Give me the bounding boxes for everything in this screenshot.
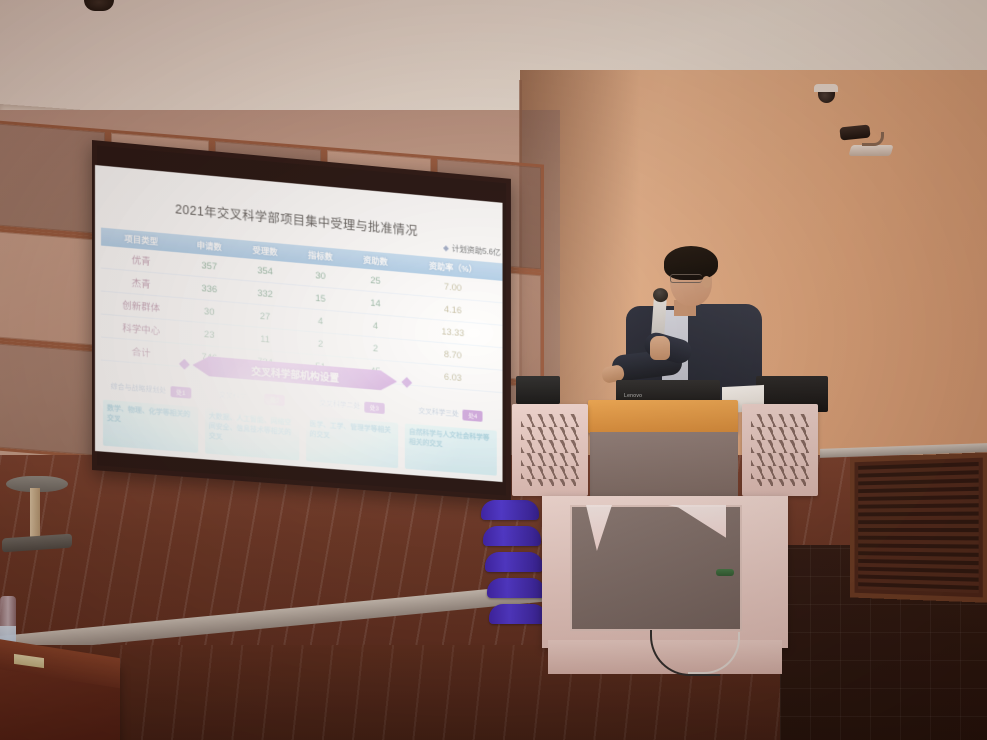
- org-chip-label: 交叉科学二处: [319, 398, 360, 411]
- org-chip-tag: 处1: [170, 386, 191, 399]
- org-chip-tag: 处3: [364, 401, 385, 413]
- org-box: 大数据、人工智能、网络空间安全、信息技术等相关的交叉: [205, 408, 299, 461]
- org-box: 数学、物理、化学等相关的交叉: [103, 400, 198, 453]
- bullet-camera: [840, 126, 900, 162]
- projection-screen: 2021年交叉科学部项目集中受理与批准情况 ◆计划资助5.6亿 项目类型 申请数…: [92, 140, 522, 470]
- stage-stool: [6, 476, 68, 572]
- slide-note-text: 计划资助5.6亿: [452, 244, 501, 257]
- org-chip: 综合与战略规划处 处1: [103, 378, 199, 402]
- glasses-icon: [670, 274, 702, 283]
- org-chip: 交叉科学三处 处4: [404, 402, 496, 425]
- org-chip-tag: 处2: [264, 393, 285, 406]
- ear: [702, 276, 711, 288]
- slide-note: ◆计划资助5.6亿: [443, 242, 501, 258]
- lectern-podium: Lenovo: [500, 392, 830, 692]
- org-chip: 交叉科学二处 处3: [305, 394, 399, 417]
- org-box: 医学、工学、管理学等相关的交叉: [306, 416, 399, 469]
- door-handle-icon[interactable]: [716, 569, 734, 576]
- slide-content: 2021年交叉科学部项目集中受理与批准情况 ◆计划资助5.6亿 项目类型 申请数…: [95, 165, 503, 482]
- wall-vent-grille: [850, 452, 987, 603]
- org-chip-tag: 处4: [463, 409, 483, 421]
- org-box: 自然科学与人文社会科学等相关的交叉: [405, 424, 497, 476]
- org-chip-label: 综合与战略规划处: [111, 381, 167, 395]
- laptop-brand-label: Lenovo: [624, 393, 642, 399]
- org-chip-label: 交叉科学一处: [219, 390, 260, 403]
- org-chip: 交叉科学一处 处2: [205, 386, 300, 409]
- podium-front-panel: [590, 432, 738, 498]
- podium-wooden-top: [588, 400, 738, 433]
- presentation-room-scene: 2021年交叉科学部项目集中受理与批准情况 ◆计划资助5.6亿 项目类型 申请数…: [0, 0, 987, 740]
- bullet-icon: ◆: [443, 243, 449, 252]
- org-chip-label: 交叉科学三处: [418, 406, 458, 419]
- hand-holding-mic: [650, 336, 670, 360]
- laptop[interactable]: Lenovo: [616, 380, 720, 402]
- dome-camera: [814, 84, 838, 97]
- podium-speaker-left: [512, 404, 588, 496]
- podium-speaker-right: [742, 404, 818, 496]
